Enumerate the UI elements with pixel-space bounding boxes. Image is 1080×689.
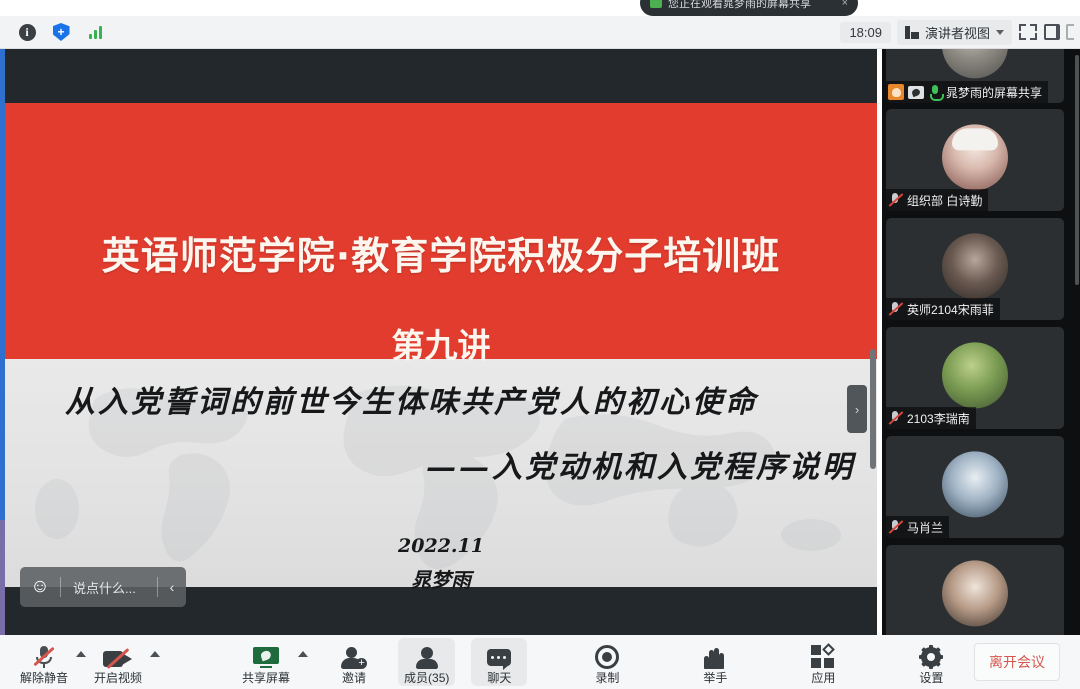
participant-label: 马肖兰: [886, 516, 949, 538]
participant-tile[interactable]: 2103李瑞南: [886, 327, 1064, 429]
view-mode-label: 演讲者视图: [925, 23, 990, 42]
participant-label: 晁梦雨的屏幕共享: [886, 81, 1048, 103]
invite-icon: [341, 645, 367, 669]
expand-panel-handle[interactable]: ›: [847, 385, 867, 433]
window-left-edge-lower: [0, 520, 5, 640]
fullscreen-icon[interactable]: [1018, 22, 1038, 42]
top-toolbar: i + 18:09 演讲者视图: [0, 16, 1080, 49]
raise-hand-button[interactable]: 举手: [687, 638, 743, 686]
slide-title: 英语师范学院·教育学院积极分子培训班: [5, 225, 877, 280]
chat-input[interactable]: 说点什么...: [61, 578, 157, 597]
security-shield-icon[interactable]: +: [48, 20, 74, 44]
share-options-chevron-up-icon[interactable]: [298, 651, 308, 657]
slide-date: 2022.11: [5, 535, 877, 557]
apps-icon: [811, 645, 835, 669]
participant-tile[interactable]: [886, 545, 1064, 635]
participant-tile[interactable]: 马肖兰: [886, 436, 1064, 538]
participant-name: 晁梦雨的屏幕共享: [946, 84, 1042, 101]
members-label: 成员(35): [404, 672, 449, 684]
record-button[interactable]: 录制: [579, 638, 635, 686]
emoji-smile-icon[interactable]: ☺: [20, 567, 60, 607]
unmute-button[interactable]: 解除静音: [14, 638, 74, 686]
host-icon: [888, 84, 904, 100]
participant-tile[interactable]: 组织部 白诗勤: [886, 109, 1064, 211]
participant-name: 组织部 白诗勤: [907, 192, 982, 209]
settings-button[interactable]: 设置: [903, 638, 959, 686]
network-signal-icon[interactable]: [82, 20, 108, 44]
avatar: [942, 124, 1008, 190]
camera-off-icon: [103, 645, 133, 669]
chevron-down-icon: [996, 30, 1004, 35]
apps-button[interactable]: 应用: [795, 638, 851, 686]
shared-screen-stage[interactable]: 英语师范学院·教育学院积极分子培训班 第九讲 从入党誓词的前世今生体味共产党人的…: [5, 49, 877, 635]
chat-button[interactable]: 聊天: [471, 638, 527, 686]
mic-on-icon: [928, 84, 942, 100]
stage-scrollbar[interactable]: [870, 349, 876, 469]
info-icon[interactable]: i: [14, 20, 40, 44]
screen-share-icon: [650, 0, 662, 8]
leave-meeting-button[interactable]: 离开会议: [974, 643, 1060, 681]
mic-off-icon: [888, 301, 903, 317]
slide-heading-line-2: ——入党动机和入党程序说明: [65, 442, 855, 486]
avatar: [942, 233, 1008, 299]
chevron-left-icon[interactable]: ‹: [158, 567, 186, 607]
audio-options-chevron-up-icon[interactable]: [76, 651, 86, 657]
start-video-button[interactable]: 开启视频: [88, 638, 148, 686]
chat-composer[interactable]: ☺ 说点什么... ‹: [20, 567, 186, 607]
raise-hand-label: 举手: [703, 672, 727, 684]
speaker-view-icon: [905, 26, 919, 39]
video-options-chevron-up-icon[interactable]: [150, 651, 160, 657]
members-button[interactable]: 成员(35): [398, 638, 455, 686]
participant-name: 2103李瑞南: [907, 410, 970, 427]
chat-icon: [487, 645, 511, 669]
close-icon[interactable]: ×: [842, 0, 848, 9]
info-glyph: i: [19, 24, 36, 41]
mic-muted-icon: [33, 645, 55, 669]
side-panel-icon[interactable]: [1044, 24, 1060, 40]
bottom-toolbar: 解除静音 开启视频 共享屏幕 邀请 成员(35) 聊天: [0, 635, 1080, 689]
invite-button[interactable]: 邀请: [326, 638, 382, 686]
screen-share-icon: [908, 86, 924, 99]
slide-subtitle: 第九讲: [5, 319, 877, 367]
participant-label: 英师2104宋雨菲: [886, 298, 1000, 320]
participant-name: 英师2104宋雨菲: [907, 301, 994, 318]
participant-strip[interactable]: 晁梦雨的屏幕共享 组织部 白诗勤 英师2104宋雨菲 2103李瑞南 马肖兰: [882, 49, 1080, 635]
slide-heading-line-1: 从入党誓词的前世今生体味共产党人的初心使命: [65, 377, 855, 421]
gear-icon: [919, 645, 943, 669]
notification-text: 您正在观看晁梦雨的屏幕共享: [668, 0, 811, 11]
participant-tile[interactable]: 英师2104宋雨菲: [886, 218, 1064, 320]
mic-off-icon: [888, 192, 903, 208]
presentation-slide: 英语师范学院·教育学院积极分子培训班 第九讲 从入党誓词的前世今生体味共产党人的…: [5, 49, 877, 635]
avatar: [942, 342, 1008, 408]
avatar: [942, 49, 1008, 78]
participant-name: 马肖兰: [907, 519, 943, 536]
unmute-label: 解除静音: [20, 672, 68, 684]
avatar: [942, 451, 1008, 517]
chat-label: 聊天: [487, 672, 511, 684]
mic-off-icon: [888, 519, 903, 535]
start-video-label: 开启视频: [94, 672, 142, 684]
participant-label: 2103李瑞南: [886, 407, 976, 429]
members-icon: [415, 645, 439, 669]
top-toolbar-left: i +: [0, 20, 108, 44]
share-screen-button[interactable]: 共享屏幕: [236, 638, 296, 686]
record-icon: [595, 645, 619, 669]
slide-letterbox-top: [5, 49, 877, 103]
apps-label: 应用: [811, 672, 835, 684]
invite-label: 邀请: [342, 672, 366, 684]
participant-scrollbar[interactable]: [1075, 55, 1079, 285]
hat-shape: [952, 128, 998, 150]
shield-glyph: +: [53, 23, 70, 41]
share-screen-label: 共享屏幕: [242, 672, 290, 684]
top-toolbar-right: 18:09 演讲者视图: [840, 20, 1080, 45]
collapse-edge-icon[interactable]: [1066, 24, 1074, 40]
screen-share-notification: 您正在观看晁梦雨的屏幕共享 ×: [640, 0, 858, 16]
avatar: [942, 560, 1008, 626]
settings-label: 设置: [919, 672, 943, 684]
record-label: 录制: [595, 672, 619, 684]
meeting-clock: 18:09: [840, 22, 891, 43]
view-mode-selector[interactable]: 演讲者视图: [897, 20, 1012, 45]
raise-hand-icon: [704, 645, 726, 669]
participant-label: 组织部 白诗勤: [886, 189, 988, 211]
participant-tile[interactable]: 晁梦雨的屏幕共享: [886, 49, 1064, 103]
share-screen-icon: [253, 645, 279, 669]
mic-off-icon: [888, 410, 903, 426]
signal-bars: [89, 25, 102, 39]
